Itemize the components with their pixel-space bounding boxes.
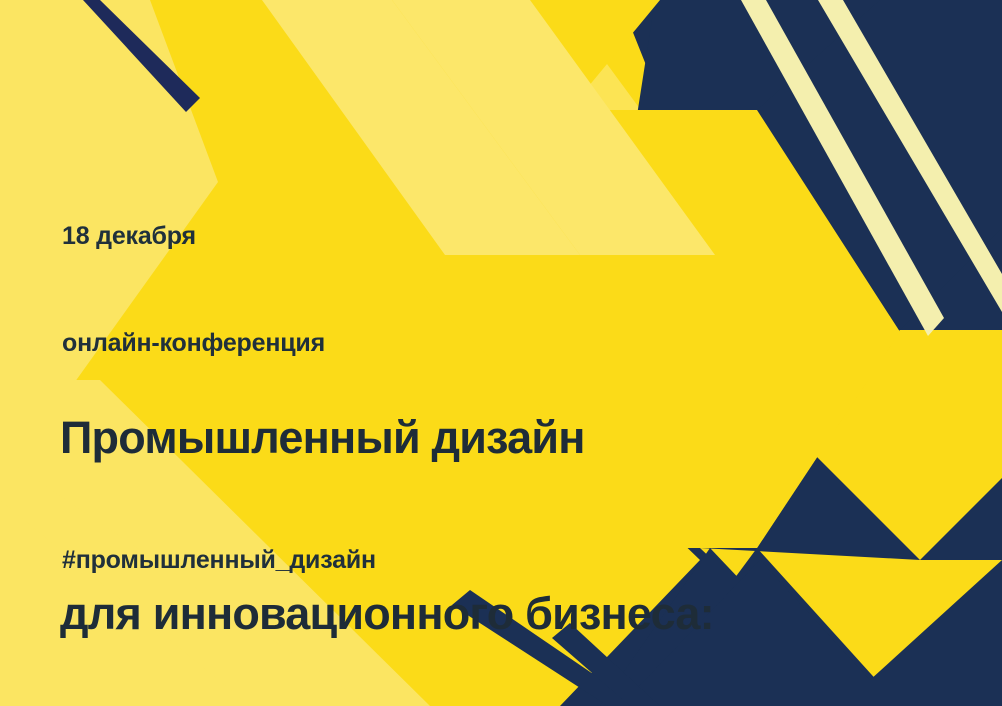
page-title: Промышленный дизайн для инновационного б… [60, 292, 714, 706]
poster-content: 18 декабря онлайн-конференция Промышленн… [0, 0, 1002, 706]
event-date: 18 декабря [62, 219, 325, 255]
headline-line-1: Промышленный дизайн [60, 409, 714, 468]
headline-line-2: для инновационного бизнеса: [60, 585, 714, 644]
event-hashtag: #промышленный_дизайн [62, 546, 376, 575]
conference-poster: 18 декабря онлайн-конференция Промышленн… [0, 0, 1002, 706]
